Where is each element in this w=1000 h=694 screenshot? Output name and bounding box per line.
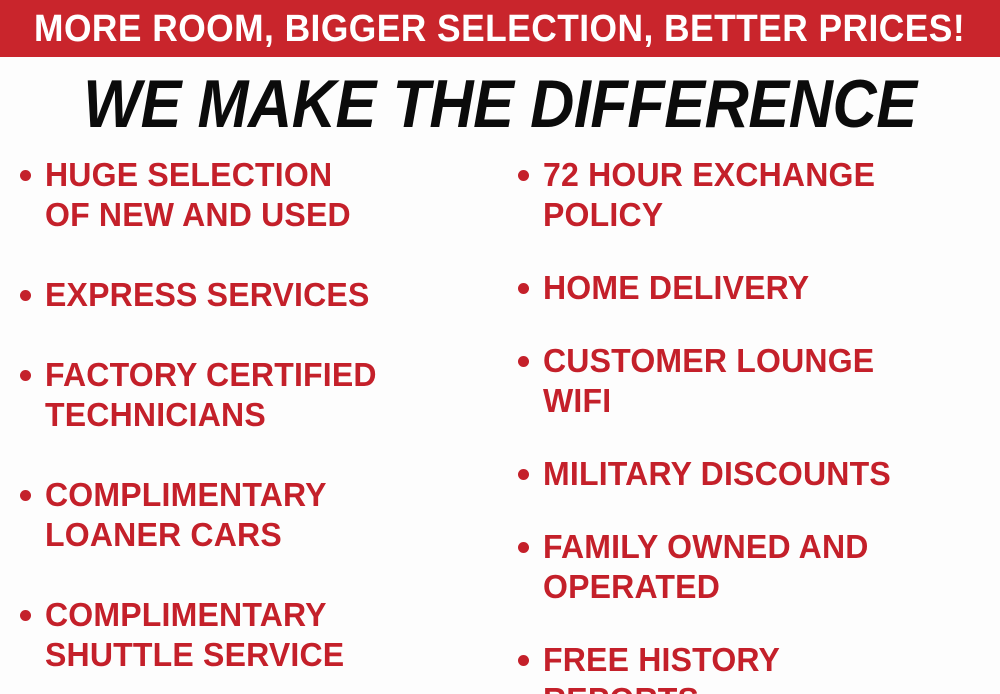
list-item-label: COMPLIMENTARY LOANER CARS [45, 475, 486, 555]
feature-column-left: HUGE SELECTION OF NEW AND USED EXPRESS S… [20, 155, 500, 694]
list-item: FREE HISTORY REPORTS [518, 640, 1000, 694]
list-item-label: FAMILY OWNED AND OPERATED [543, 527, 986, 607]
list-item: CUSTOMER LOUNGE WIFI [518, 341, 1000, 421]
bullet-dot-icon [518, 542, 529, 553]
list-item-label: FREE HISTORY REPORTS [543, 640, 986, 694]
list-item: MILITARY DISCOUNTS [518, 454, 1000, 494]
list-item: HOME DELIVERY [518, 268, 1000, 308]
top-banner: MORE ROOM, BIGGER SELECTION, BETTER PRIC… [0, 0, 1000, 57]
feature-column-right: 72 HOUR EXCHANGE POLICY HOME DELIVERY CU… [518, 155, 1000, 694]
bullet-dot-icon [518, 655, 529, 666]
list-item-label: CUSTOMER LOUNGE WIFI [543, 341, 986, 421]
list-item: COMPLIMENTARY LOANER CARS [20, 475, 500, 555]
bullet-dot-icon [20, 610, 31, 621]
bullet-dot-icon [518, 356, 529, 367]
page-title: WE MAKE THE DIFFERENCE [83, 70, 916, 138]
promo-poster: MORE ROOM, BIGGER SELECTION, BETTER PRIC… [0, 0, 1000, 694]
list-item: 72 HOUR EXCHANGE POLICY [518, 155, 1000, 235]
bullet-dot-icon [20, 370, 31, 381]
list-item: COMPLIMENTARY SHUTTLE SERVICE [20, 595, 500, 675]
list-item: HUGE SELECTION OF NEW AND USED [20, 155, 500, 235]
list-item: FACTORY CERTIFIED TECHNICIANS [20, 355, 500, 435]
bullet-dot-icon [518, 469, 529, 480]
list-item-label: FACTORY CERTIFIED TECHNICIANS [45, 355, 486, 435]
bullet-dot-icon [20, 170, 31, 181]
bullet-dot-icon [20, 290, 31, 301]
banner-headline-text: MORE ROOM, BIGGER SELECTION, BETTER PRIC… [34, 10, 965, 48]
list-item-label: COMPLIMENTARY SHUTTLE SERVICE [45, 595, 486, 675]
list-item: EXPRESS SERVICES [20, 275, 500, 315]
bullet-dot-icon [20, 490, 31, 501]
bullet-dot-icon [518, 283, 529, 294]
bullet-dot-icon [518, 170, 529, 181]
list-item: FAMILY OWNED AND OPERATED [518, 527, 1000, 607]
list-item-label: HOME DELIVERY [543, 268, 986, 308]
main-headline-container: WE MAKE THE DIFFERENCE [0, 66, 1000, 142]
list-item-label: HUGE SELECTION OF NEW AND USED [45, 155, 486, 235]
list-item-label: EXPRESS SERVICES [45, 275, 486, 315]
list-item-label: MILITARY DISCOUNTS [543, 454, 986, 494]
feature-columns: HUGE SELECTION OF NEW AND USED EXPRESS S… [0, 155, 1000, 694]
list-item-label: 72 HOUR EXCHANGE POLICY [543, 155, 986, 235]
